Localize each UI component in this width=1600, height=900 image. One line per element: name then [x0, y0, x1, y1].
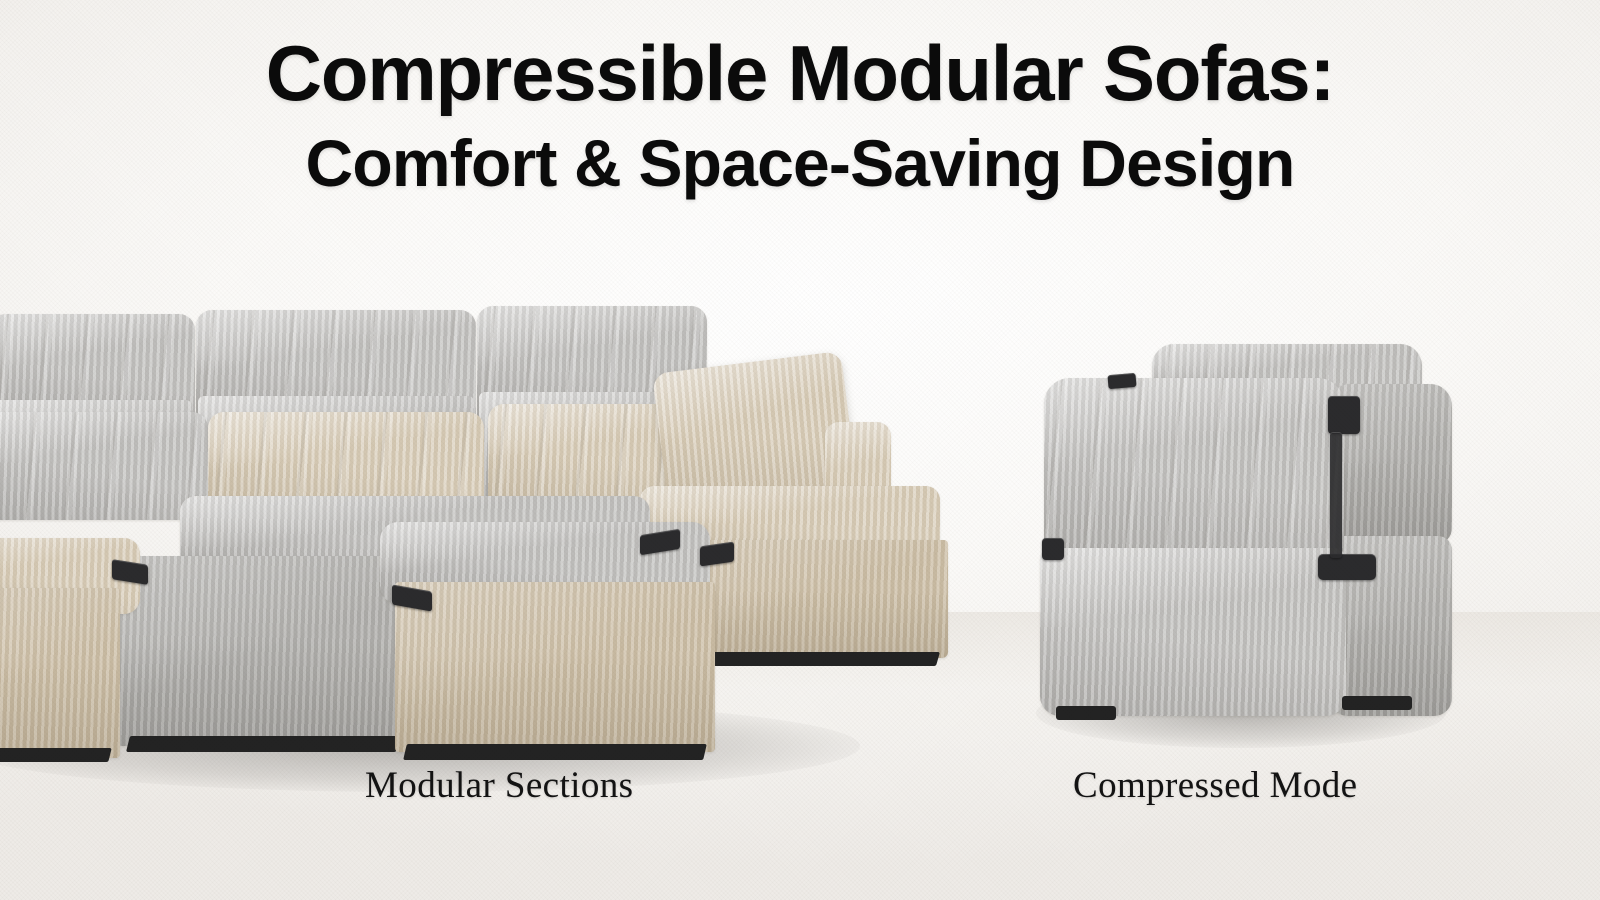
- seat-module-grey-center-body: [118, 556, 408, 746]
- caption-compressed-mode: Compressed Mode: [1073, 764, 1358, 807]
- plinth-base-left: [0, 748, 112, 762]
- connector-buckle-top-right: [1328, 396, 1360, 434]
- connector-buckle-side-rail: [1330, 432, 1342, 558]
- cube-foot-right: [1342, 696, 1412, 710]
- page-title: Compressible Modular Sofas:: [0, 34, 1600, 112]
- heading-block: Compressible Modular Sofas: Comfort & Sp…: [0, 34, 1600, 196]
- plinth-base-ottoman: [403, 744, 707, 760]
- cube-foot-left: [1056, 706, 1116, 720]
- modular-sectional-sofa: [0, 300, 970, 770]
- caption-modular-sections: Modular Sections: [365, 764, 633, 807]
- compressed-cube-stack: [1030, 340, 1450, 740]
- cube-top-front: [1044, 378, 1344, 558]
- lumbar-grey-1: [0, 412, 208, 520]
- connector-buckle-mid-left: [1042, 538, 1064, 560]
- connector-buckle-mid-center: [1318, 554, 1376, 580]
- connector-buckle-top-left: [1107, 373, 1136, 389]
- page-subtitle: Comfort & Space-Saving Design: [0, 130, 1600, 196]
- poster-canvas: Compressible Modular Sofas: Comfort & Sp…: [0, 0, 1600, 900]
- plinth-base-center: [126, 736, 400, 752]
- ottoman-module-body: [395, 582, 715, 752]
- seat-module-beige-left-body: [0, 588, 120, 758]
- cube-bottom-front: [1040, 548, 1346, 716]
